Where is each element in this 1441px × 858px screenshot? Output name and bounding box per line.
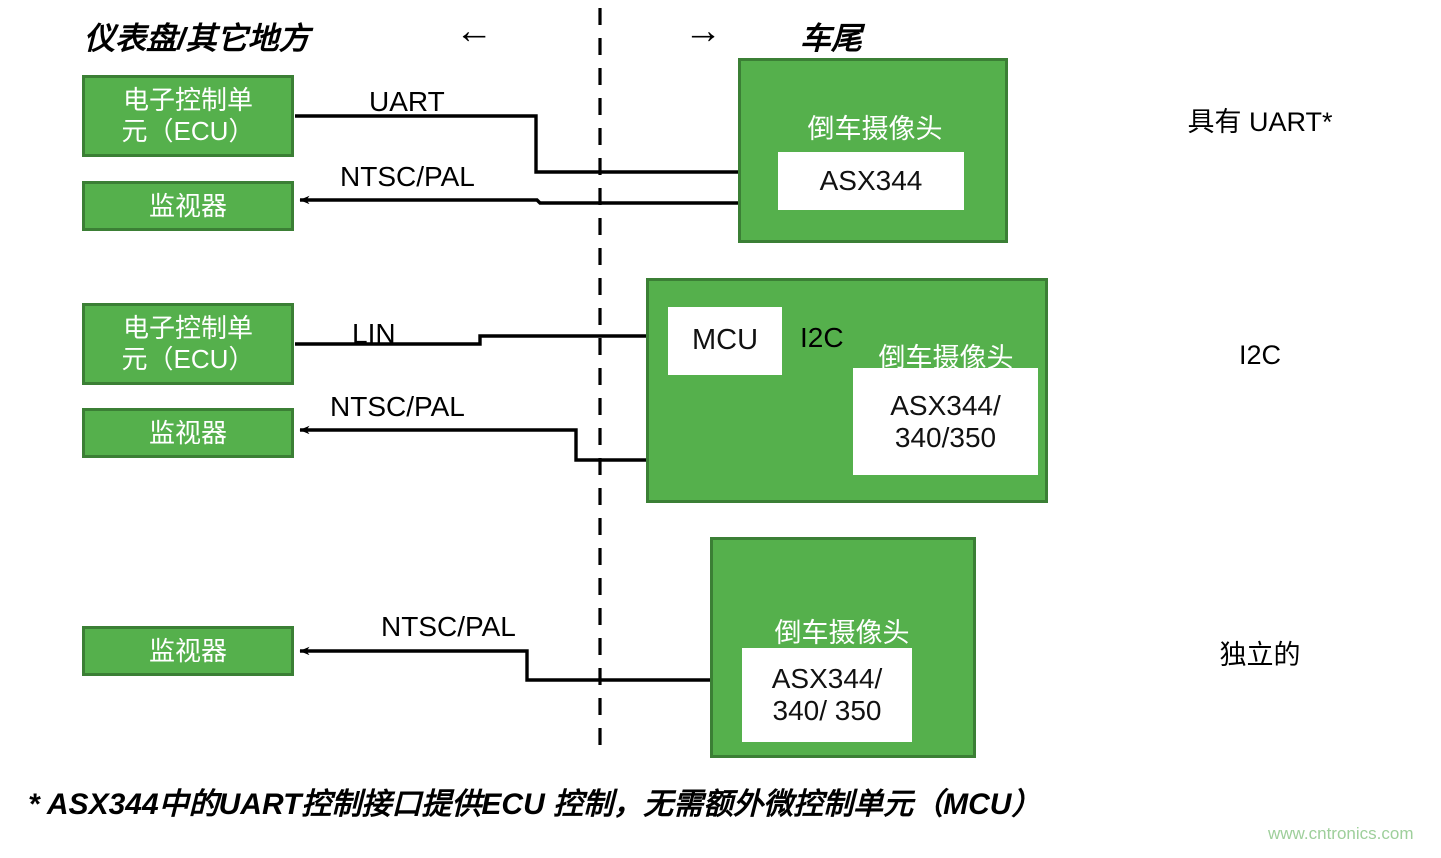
link-label-ntsc-row3: NTSC/PAL [381, 611, 516, 643]
link-label-lin: LIN [352, 318, 396, 350]
mcu-block-row2[interactable]: MCU [668, 307, 782, 375]
header-left-zone-label: 仪表盘/其它地方 [84, 13, 310, 58]
monitor-block-row1[interactable]: 监视器 [82, 181, 294, 231]
link-label-ntsc-row1: NTSC/PAL [340, 161, 475, 193]
link-label-ntsc-row2: NTSC/PAL [330, 391, 465, 423]
monitor-block-row3[interactable]: 监视器 [82, 626, 294, 676]
rear-camera-container-row1[interactable] [738, 58, 1008, 243]
sensor-label-row3: ASX344/ 340/ 350 [772, 663, 883, 727]
sensor-block-asx344-340-350-row2[interactable]: ASX344/ 340/350 [853, 368, 1038, 475]
footnote-text: * ASX344中的UART控制接口提供ECU 控制，无需额外微控制单元（MCU… [28, 779, 1041, 823]
sensor-block-asx344-340-350-row3[interactable]: ASX344/ 340/ 350 [742, 648, 912, 742]
ecu-label-row1: 电子控制单 元（ECU） [122, 85, 255, 146]
site-watermark: www.cntronics.com [1268, 824, 1413, 844]
sensor-label-row2: ASX344/ 340/350 [890, 390, 1001, 454]
mcu-label: MCU [692, 324, 758, 357]
monitor-label-row2: 监视器 [149, 418, 227, 449]
ecu-block-row2[interactable]: 电子控制单 元（ECU） [82, 303, 294, 385]
wire-lin-ecu-to-mcu [295, 336, 660, 344]
monitor-label-row1: 监视器 [149, 191, 227, 222]
wire-ntsc-camera-to-monitor-row1 [300, 200, 778, 203]
left-arrow-icon: ← [455, 10, 493, 53]
header-right-zone-label: 车尾 [800, 13, 862, 58]
monitor-block-row2[interactable]: 监视器 [82, 408, 294, 458]
internal-bus-label-i2c: I2C [800, 322, 844, 354]
sensor-label-row1: ASX344 [820, 165, 923, 197]
row-label-i2c: I2C [1130, 340, 1390, 371]
sensor-block-asx344-row1[interactable]: ASX344 [778, 152, 964, 210]
row-label-standalone: 独立的 [1130, 633, 1390, 672]
rear-camera-caption-row1: 倒车摄像头 [786, 107, 964, 146]
link-label-uart: UART [369, 86, 445, 118]
wire-ntsc-camera-to-monitor-row3 [300, 651, 760, 680]
right-arrow-icon: → [684, 10, 722, 53]
monitor-label-row3: 监视器 [149, 636, 227, 667]
diagram-canvas: 仪表盘/其它地方 ← → 车尾 电子控制单 元（ECU） 监视器 UART NT… [0, 0, 1441, 858]
row-label-uart: 具有 UART* [1130, 100, 1390, 139]
ecu-block-row1[interactable]: 电子控制单 元（ECU） [82, 75, 294, 157]
ecu-label-row2: 电子控制单 元（ECU） [122, 313, 255, 374]
rear-camera-caption-row3: 倒车摄像头 [752, 611, 932, 650]
